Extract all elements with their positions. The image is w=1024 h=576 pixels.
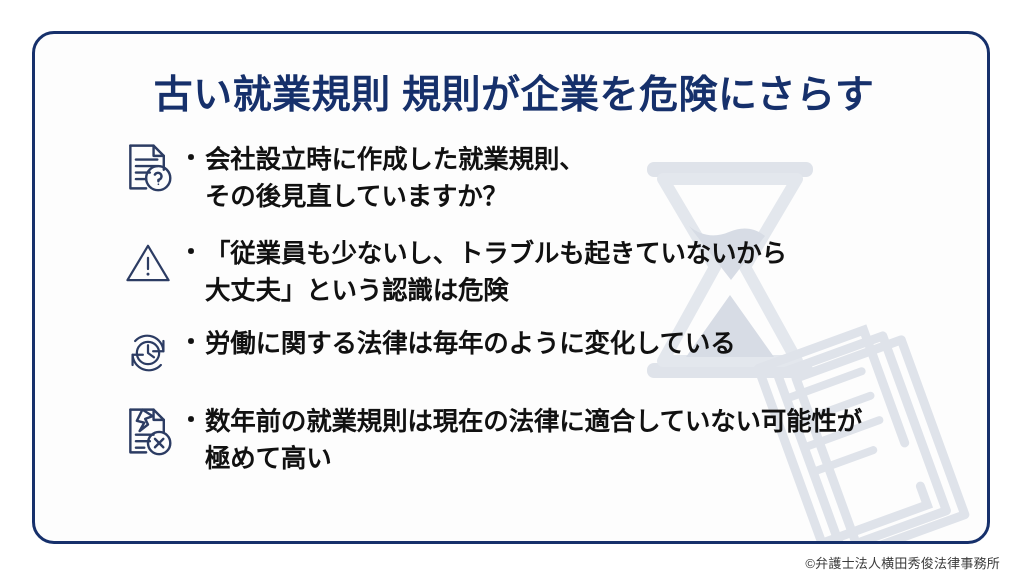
content-card: 古い就業規則 規則が企業を危険にさらす xyxy=(32,31,990,544)
bullet-marker: ・ xyxy=(179,236,203,270)
list-item-line-1: 数年前の就業規則は現在の法律に適合していない可能性が xyxy=(205,408,862,436)
copyright-notice: ©弁護士法人横田秀俊法律事務所 xyxy=(805,553,1000,572)
list-item: ・ 数年前の就業規則は現在の法律に適合していない可能性が 極めて高い xyxy=(117,398,977,478)
warning-triangle-icon xyxy=(117,232,179,294)
list-item: ・ 会社設立時に作成した就業規則、 その後見直していますか？ xyxy=(117,136,977,216)
bullet-marker: ・ xyxy=(179,142,203,176)
bullet-marker: ・ xyxy=(179,326,203,360)
document-invalid-icon xyxy=(117,400,179,462)
list-item-label: 会社設立時に作成した就業規則、 その後見直していますか？ xyxy=(205,142,585,216)
list-item-line-2: その後見直していますか？ xyxy=(205,179,585,216)
list-item-label: 数年前の就業規則は現在の法律に適合していない可能性が 極めて高い xyxy=(205,404,862,478)
list-item-label: 「従業員も少ないし、トラブルも起きていないから 大丈夫」という認識は危険 xyxy=(205,236,787,310)
list-item-line-2: 大丈夫」という認識は危険 xyxy=(205,273,787,310)
list-item: ・ 「従業員も少ないし、トラブルも起きていないから 大丈夫」という認識は危険 xyxy=(117,230,977,310)
list-item-line-2: 極めて高い xyxy=(205,441,862,478)
bullet-list: ・ 会社設立時に作成した就業規則、 その後見直していますか？ xyxy=(117,136,977,478)
list-item-line-1: 労働に関する法律は毎年のように変化している xyxy=(205,330,736,358)
slide-canvas: 古い就業規則 規則が企業を危険にさらす xyxy=(0,0,1024,576)
clock-refresh-icon xyxy=(117,322,179,384)
document-question-icon xyxy=(117,136,179,198)
list-item-line-1: 「従業員も少ないし、トラブルも起きていないから xyxy=(205,240,787,268)
bullet-marker: ・ xyxy=(179,404,203,438)
page-title: 古い就業規則 規則が企業を危険にさらす xyxy=(71,64,957,120)
list-item: ・ 労働に関する法律は毎年のように変化している xyxy=(117,320,977,384)
list-item-label: 労働に関する法律は毎年のように変化している xyxy=(205,326,736,363)
list-item-line-1: 会社設立時に作成した就業規則、 xyxy=(205,146,585,174)
